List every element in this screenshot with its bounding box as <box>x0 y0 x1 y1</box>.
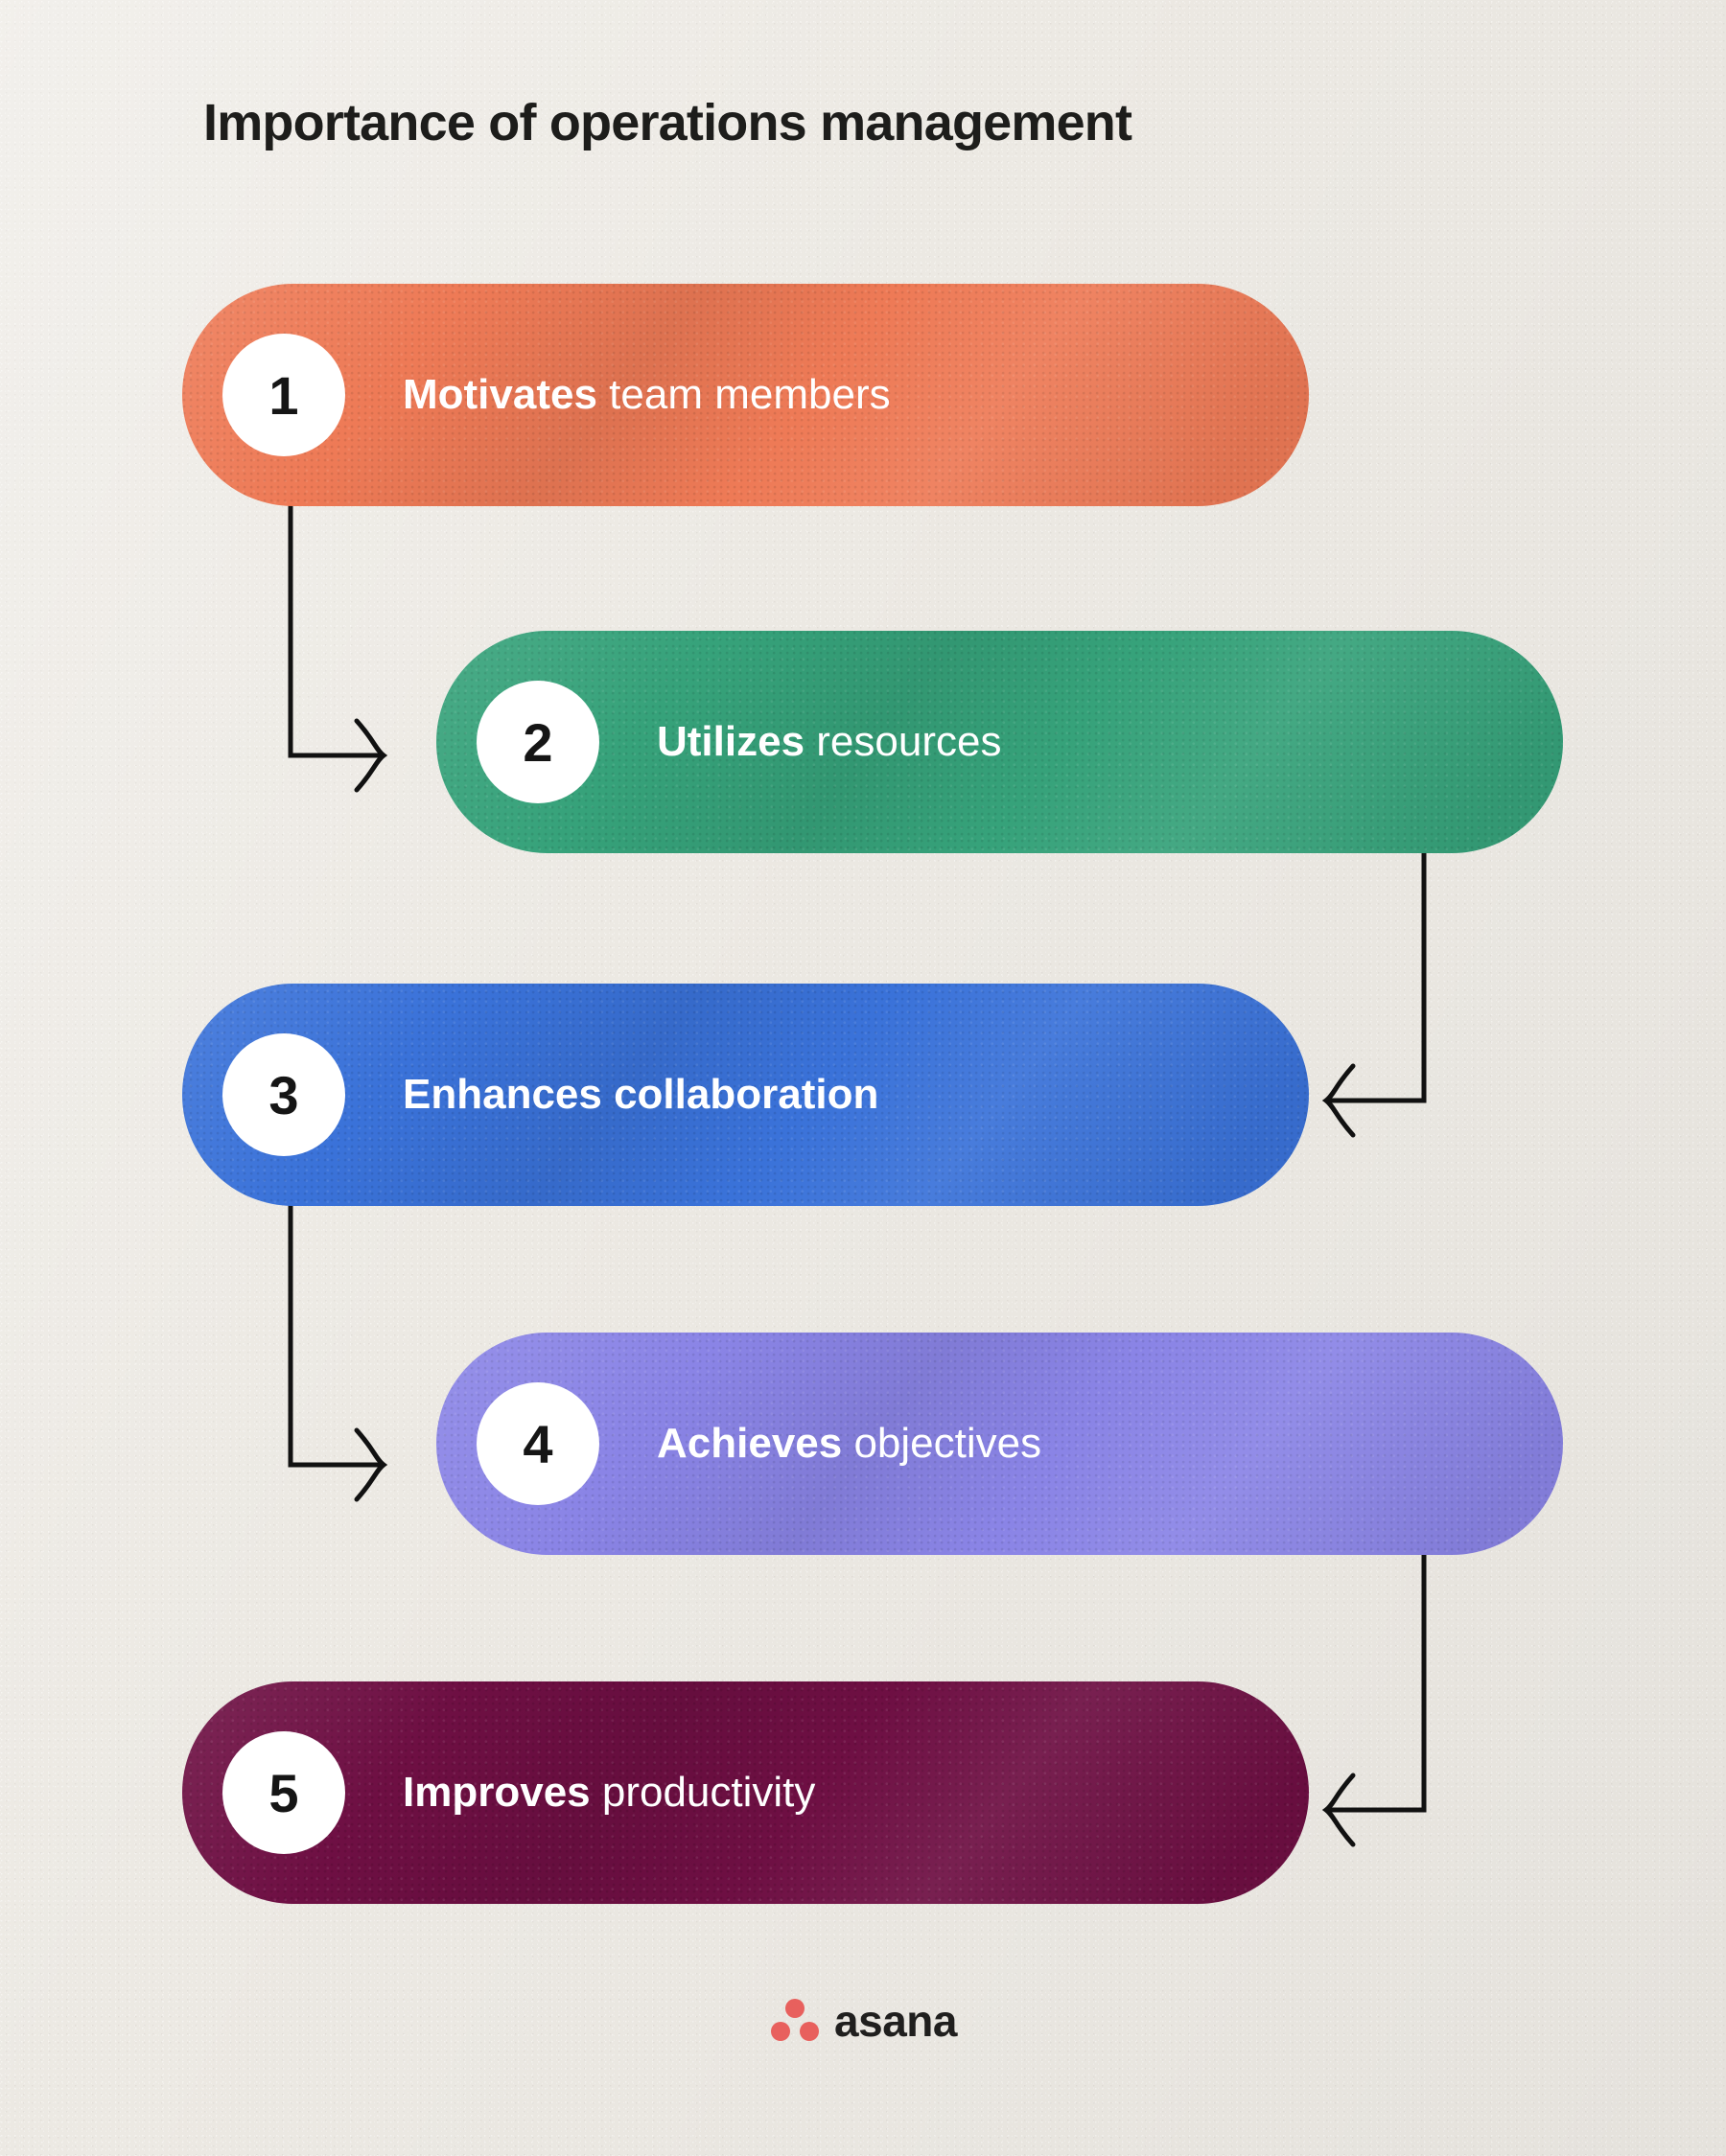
step-bar-3[interactable]: 3 Enhances collaboration <box>182 984 1309 1206</box>
step-label-bold-1: Motivates <box>403 371 597 418</box>
step-label-3: Enhances collaboration <box>403 1071 878 1119</box>
connector-1-to-2 <box>240 498 431 786</box>
asana-logo: asana <box>0 1999 1726 2043</box>
step-label-1: Motivates team members <box>403 371 891 419</box>
step-label-bold-4: Achieves <box>657 1420 842 1467</box>
step-number-1: 1 <box>268 364 298 427</box>
page-title: Importance of operations management <box>203 93 1131 152</box>
step-number-5: 5 <box>268 1762 298 1824</box>
step-label-bold-5: Improves <box>403 1769 591 1816</box>
step-number-4: 4 <box>523 1413 552 1475</box>
step-bar-1[interactable]: 1 Motivates team members <box>182 284 1309 506</box>
step-number-circle-4: 4 <box>477 1382 599 1505</box>
step-label-bold-3: Enhances collaboration <box>403 1071 878 1118</box>
asana-dots-icon <box>769 1999 821 2043</box>
step-bar-4[interactable]: 4 Achieves objectives <box>436 1333 1563 1555</box>
asana-dot-right-icon <box>800 2022 819 2041</box>
step-number-2: 2 <box>523 711 552 774</box>
asana-dot-left-icon <box>771 2022 790 2041</box>
step-number-circle-3: 3 <box>222 1033 345 1156</box>
step-label-rest-5: productivity <box>591 1769 816 1816</box>
step-label-rest-1: team members <box>597 371 891 418</box>
step-label-rest-4: objectives <box>842 1420 1041 1467</box>
step-bar-2[interactable]: 2 Utilizes resources <box>436 631 1563 853</box>
step-number-3: 3 <box>268 1064 298 1126</box>
step-number-circle-2: 2 <box>477 681 599 803</box>
asana-wordmark: asana <box>834 1999 957 2043</box>
connector-3-to-4 <box>240 1198 431 1495</box>
step-label-4: Achieves objectives <box>657 1420 1041 1468</box>
step-number-circle-1: 1 <box>222 334 345 456</box>
step-label-5: Improves productivity <box>403 1769 815 1817</box>
asana-dot-top-icon <box>785 1999 805 2018</box>
step-bar-5[interactable]: 5 Improves productivity <box>182 1681 1309 1904</box>
step-label-rest-2: resources <box>805 718 1001 765</box>
infographic-stage: Importance of operations management 1 Mo… <box>0 0 1726 2156</box>
step-label-bold-2: Utilizes <box>657 718 805 765</box>
step-number-circle-5: 5 <box>222 1731 345 1854</box>
step-label-2: Utilizes resources <box>657 718 1001 766</box>
